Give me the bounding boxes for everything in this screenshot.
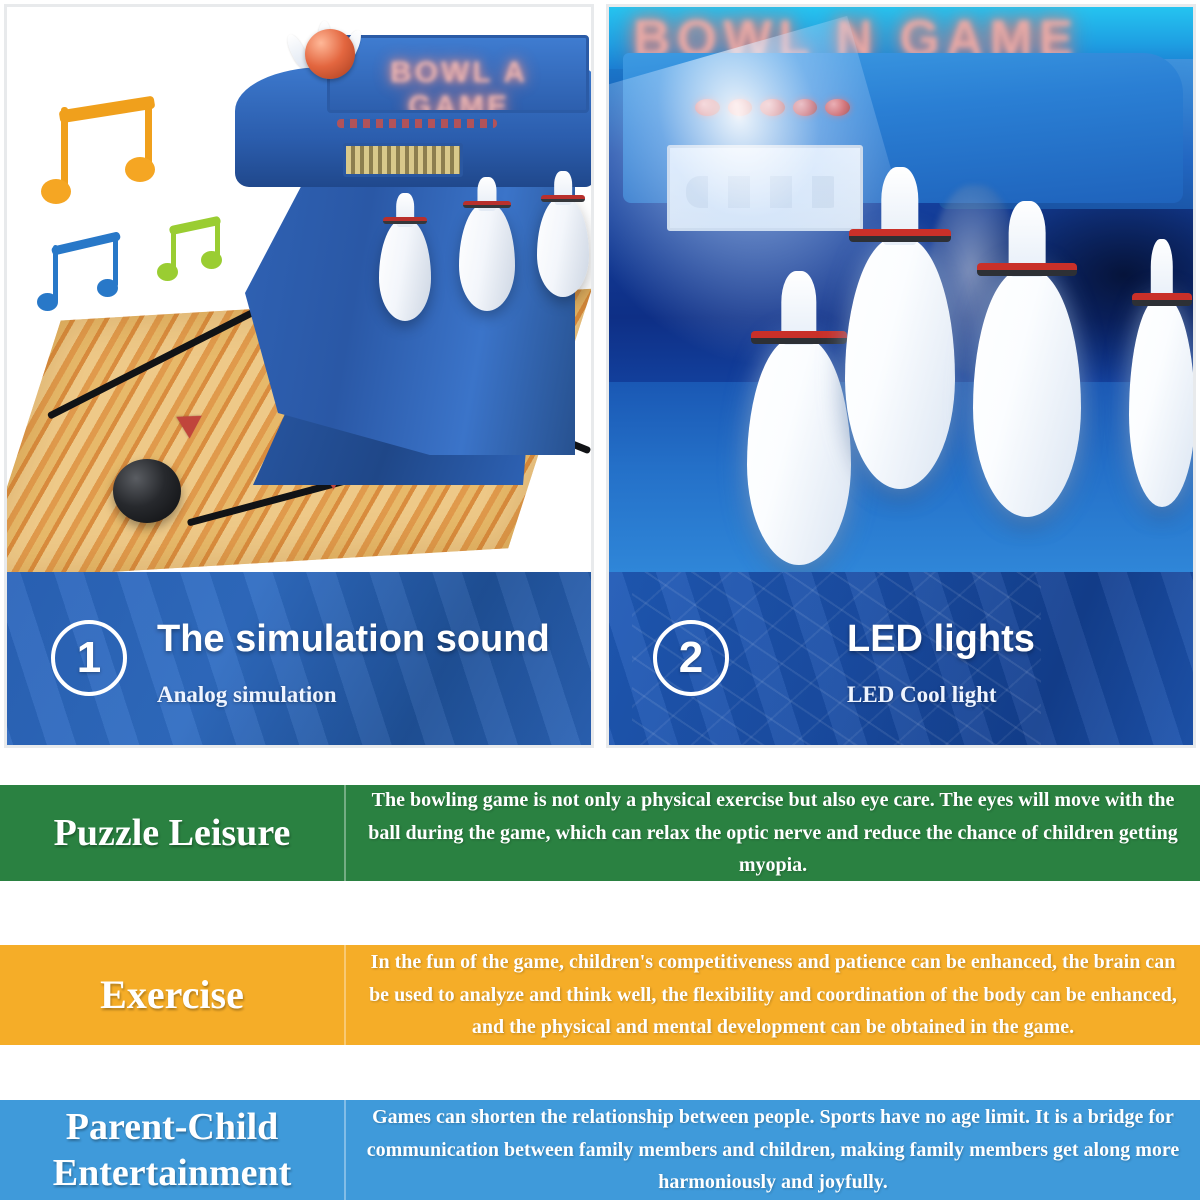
feature-label: Exercise <box>0 945 346 1045</box>
bowling-pin-icon <box>973 269 1081 517</box>
marquee-led-dots <box>337 119 497 128</box>
bowling-ball-icon <box>113 459 181 523</box>
bowling-pin-icon <box>845 237 955 489</box>
bowling-pin-icon <box>379 219 431 321</box>
panel-title: LED lights <box>847 618 1175 661</box>
panel-title: The simulation sound <box>157 618 573 661</box>
marquee-text: BOWL A GAME <box>340 56 578 113</box>
music-note-orange-icon <box>41 99 171 217</box>
logo-ball-icon <box>305 29 355 79</box>
feature-panels: BOWL A GAME <box>0 0 1200 752</box>
panel-1-caption: 1 The simulation sound Analog simulation <box>7 572 591 745</box>
feature-row-exercise: Exercise In the fun of the game, childre… <box>0 945 1200 1045</box>
product-infographic: BOWL A GAME <box>0 0 1200 1200</box>
feature-panel-1: BOWL A GAME <box>4 4 594 748</box>
panel-1-photo: BOWL A GAME <box>7 7 591 572</box>
music-note-green-icon <box>157 219 229 287</box>
panel-subtitle: Analog simulation <box>157 682 573 708</box>
score-led-strip <box>343 143 463 177</box>
machine-marquee-display: BOWL A GAME <box>327 35 589 113</box>
bowling-pin-icon <box>459 203 515 311</box>
music-note-blue-icon <box>37 235 132 323</box>
feature-row-puzzle-leisure: Puzzle Leisure The bowling game is not o… <box>0 785 1200 881</box>
panel-2-caption: 2 LED lights LED Cool light <box>609 572 1193 745</box>
feature-description: Games can shorten the relationship betwe… <box>346 1100 1200 1200</box>
panel-number-badge: 1 <box>51 620 127 696</box>
panel-2-photo: BOWL N GAME <box>609 7 1193 572</box>
feature-row-parent-child: Parent-Child Entertainment Games can sho… <box>0 1100 1200 1200</box>
bowling-pin-icon <box>1129 297 1193 507</box>
bowling-pin-icon <box>537 197 589 297</box>
panel-number-badge: 2 <box>653 620 729 696</box>
panel-subtitle: LED Cool light <box>847 682 1175 708</box>
feature-label: Puzzle Leisure <box>0 785 346 881</box>
bowling-pin-icon <box>747 337 851 565</box>
feature-label: Parent-Child Entertainment <box>0 1100 346 1200</box>
feature-panel-2: BOWL N GAME <box>606 4 1196 748</box>
feature-rows: Puzzle Leisure The bowling game is not o… <box>0 785 1200 1200</box>
feature-description: The bowling game is not only a physical … <box>346 785 1200 881</box>
feature-description: In the fun of the game, children's compe… <box>346 945 1200 1045</box>
